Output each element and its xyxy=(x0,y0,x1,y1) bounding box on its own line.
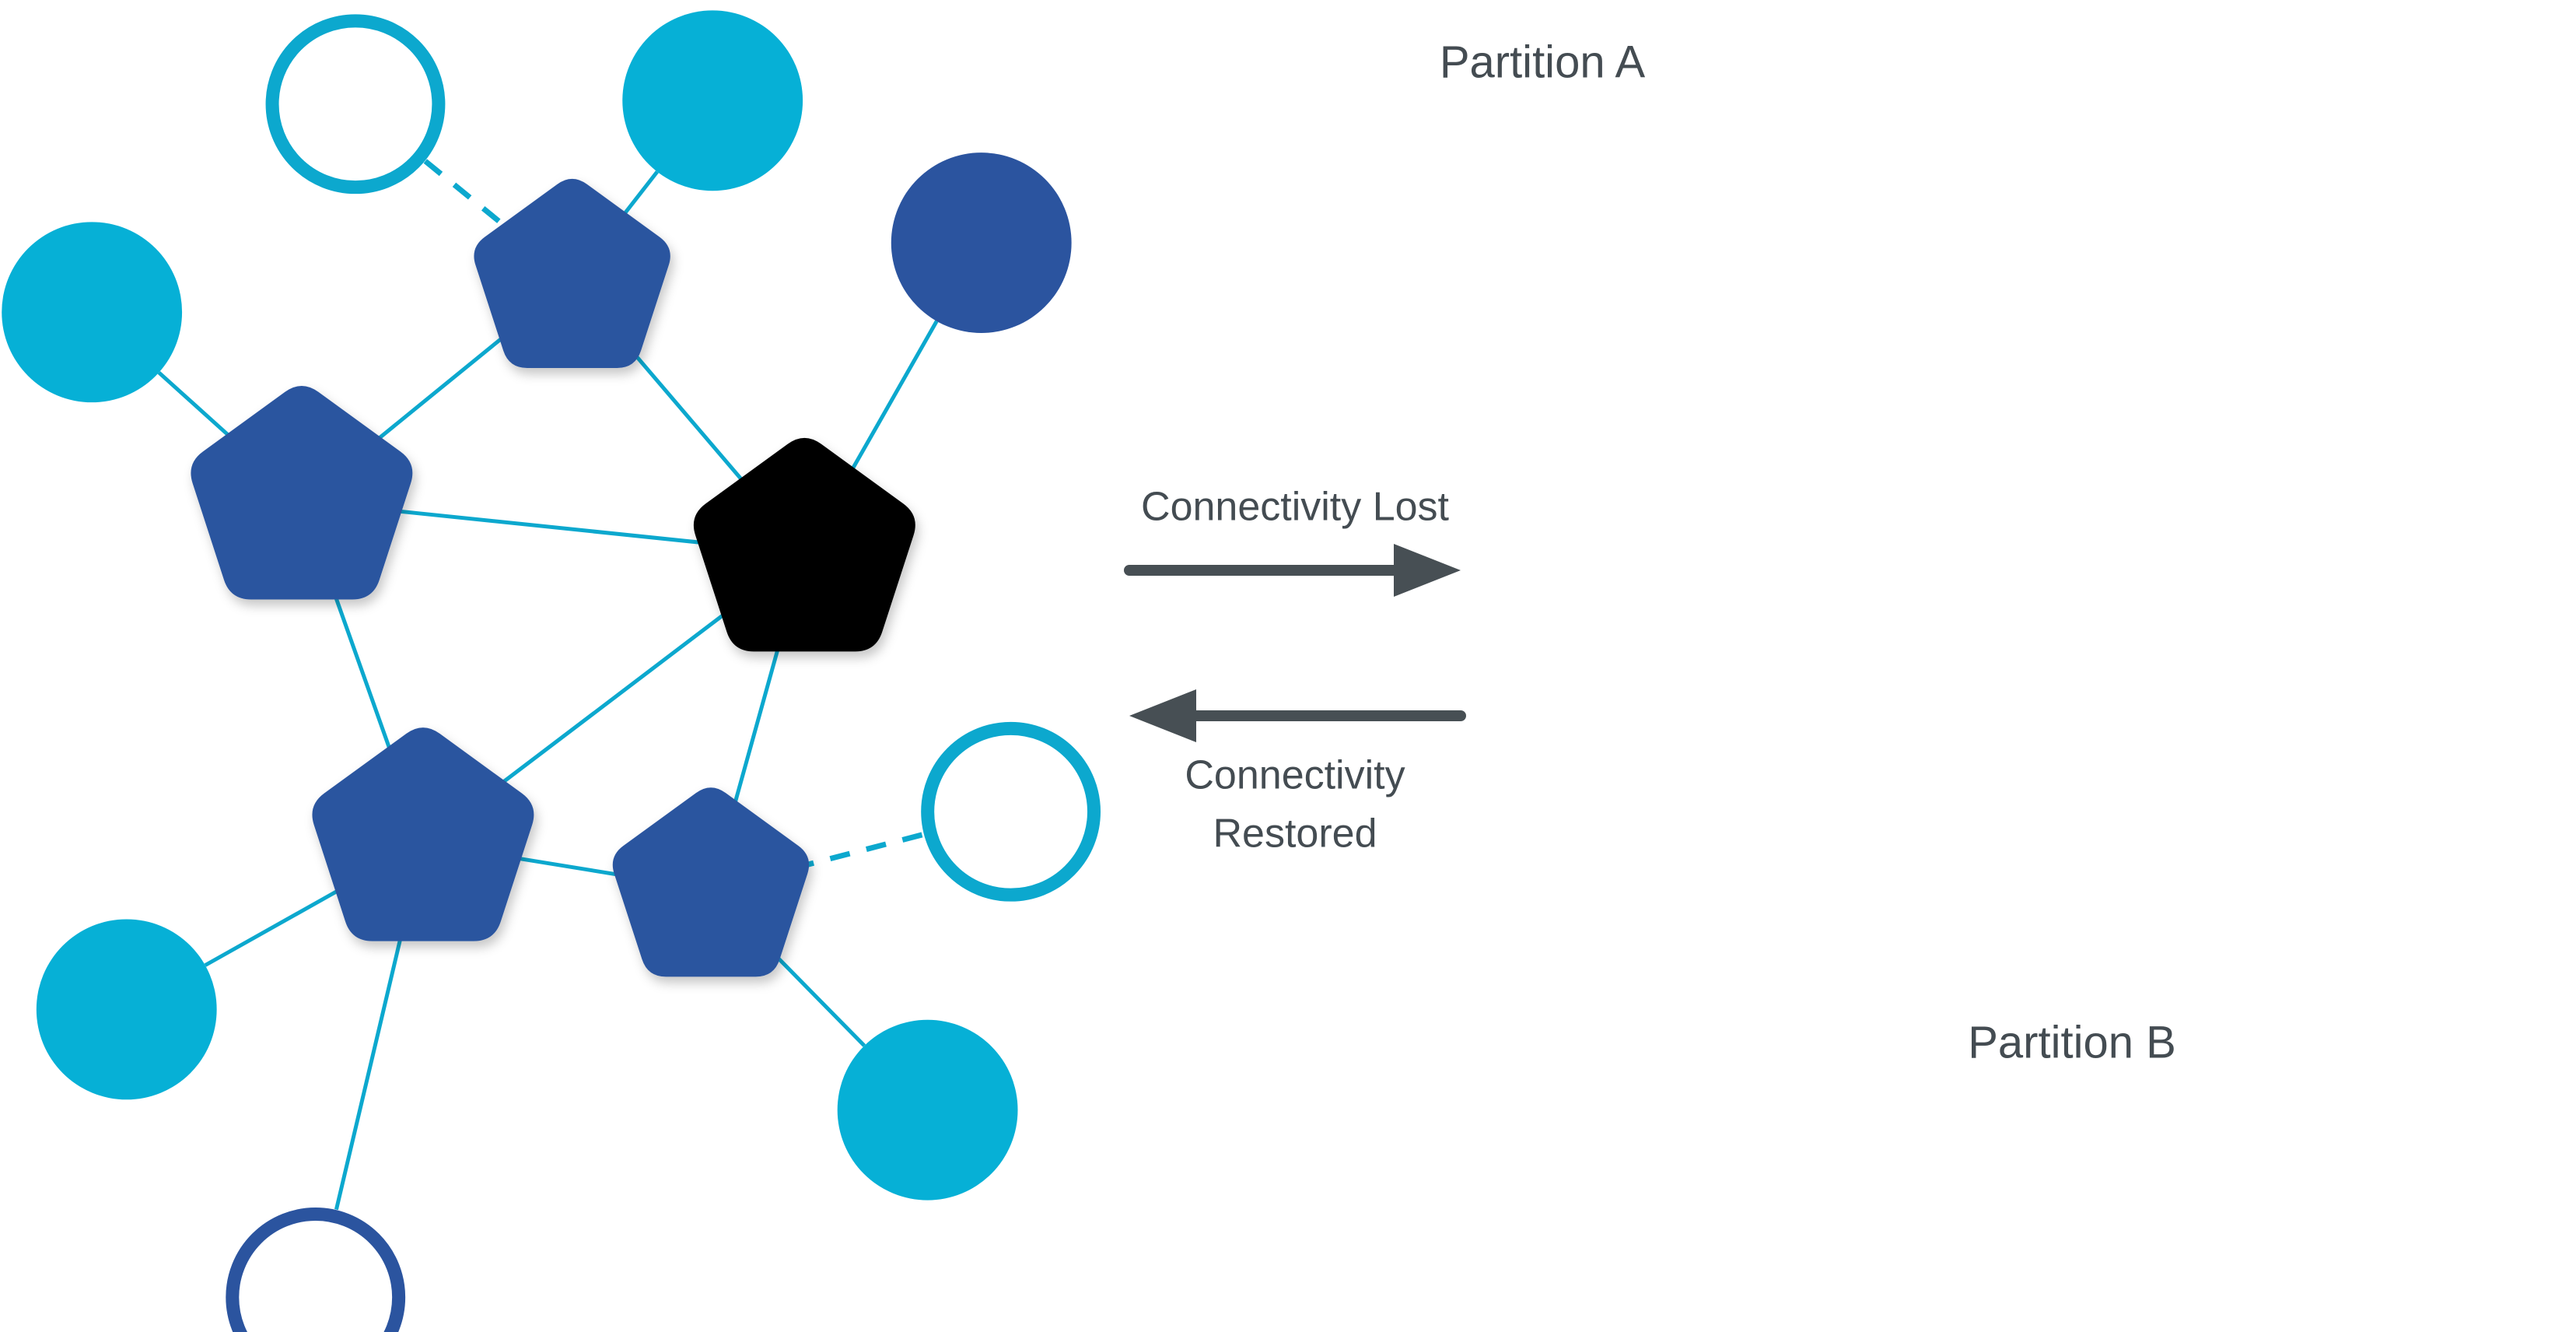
graph-edge-solid xyxy=(628,346,741,479)
graph-edge-solid xyxy=(336,938,401,1210)
center-flow-arrows xyxy=(1129,544,1461,742)
graph-edge-solid xyxy=(159,373,229,436)
graph-edge-solid xyxy=(398,511,708,543)
graph-edge-solid xyxy=(334,593,390,752)
graph-edge-dashed xyxy=(425,161,506,226)
member-node-pentagon[interactable] xyxy=(474,179,670,368)
member-node-pentagon[interactable] xyxy=(312,727,534,941)
offline-node-circle[interactable] xyxy=(928,728,1094,895)
graph-edge-solid xyxy=(772,951,865,1046)
offline-node-circle[interactable] xyxy=(272,21,439,188)
diagram-stage: Connectivity Lost Connectivity Restored … xyxy=(0,0,2576,1332)
member-node-circle[interactable] xyxy=(37,919,217,1099)
graph-edge-solid xyxy=(377,335,506,440)
partition-b-label: Partition B xyxy=(1968,1017,2176,1067)
leader-node-pentagon[interactable] xyxy=(694,438,915,651)
graph-edge-solid xyxy=(500,612,727,784)
graph-edge-solid xyxy=(852,321,936,469)
member-node-circle[interactable] xyxy=(891,152,1072,333)
member-node-circle[interactable] xyxy=(622,10,803,191)
network-partition-diagram: Connectivity Lost Connectivity Restored … xyxy=(0,0,2576,1332)
connectivity-restored-arrowhead xyxy=(1129,689,1196,742)
graph-edge-dashed xyxy=(794,834,923,868)
graph-edge-solid xyxy=(625,172,657,213)
member-node-pentagon[interactable] xyxy=(613,787,809,976)
connectivity-restored-label-line1: Connectivity xyxy=(1185,753,1405,798)
connectivity-lost-arrowhead xyxy=(1394,544,1461,597)
member-node-pentagon[interactable] xyxy=(191,386,412,599)
connectivity-lost-label: Connectivity Lost xyxy=(1141,485,1450,530)
member-node-circle[interactable] xyxy=(838,1020,1018,1201)
offline-node-circle[interactable] xyxy=(233,1215,399,1332)
connectivity-restored-label-line2: Restored xyxy=(1213,811,1377,857)
graph-edge-solid xyxy=(734,647,779,807)
partition-a-label: Partition A xyxy=(1440,37,1646,87)
left-graph-nodes xyxy=(2,10,1094,1332)
graph-edge-solid xyxy=(519,858,626,875)
graph-edge-solid xyxy=(205,890,338,965)
member-node-circle[interactable] xyxy=(2,222,182,402)
